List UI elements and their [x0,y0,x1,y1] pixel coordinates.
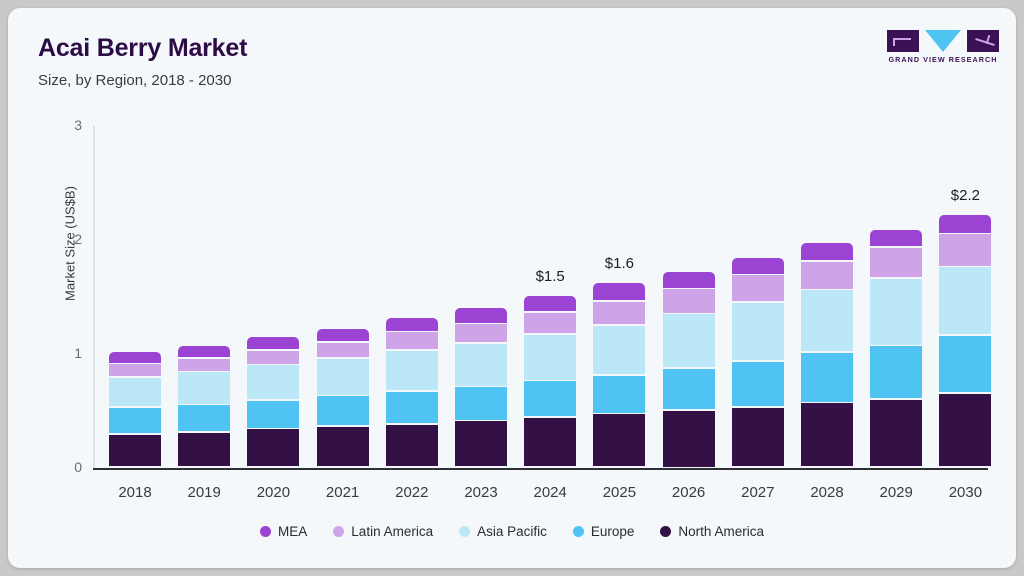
chart-card: Acai Berry Market Size, by Region, 2018 … [8,8,1016,568]
bar-segment[interactable] [732,303,784,361]
bar-segment[interactable] [939,267,991,334]
legend-swatch-icon [260,526,271,537]
legend-item-latin-america[interactable]: Latin America [333,524,433,539]
bar-segment[interactable] [663,314,715,367]
y-axis-tick-2: 2 [48,231,82,247]
bar-group[interactable] [939,8,991,468]
y-axis-tick-1: 1 [48,345,82,361]
legend-item-north-america[interactable]: North America [660,524,764,539]
legend-item-asia-pacific[interactable]: Asia Pacific [459,524,547,539]
y-axis-line [93,126,95,470]
bar-segment[interactable] [524,418,576,467]
bar-group[interactable] [663,8,715,468]
bar-segment[interactable] [801,262,853,289]
bar-segment[interactable] [109,352,161,363]
x-axis-tick-2029: 2029 [856,484,936,501]
bar-segment[interactable] [870,279,922,345]
bar-segment[interactable] [939,336,991,393]
bar-segment[interactable] [524,296,576,312]
bar-segment[interactable] [801,403,853,466]
bar-segment[interactable] [593,326,645,375]
x-axis-tick-2025: 2025 [579,484,659,501]
bar-segment[interactable] [109,435,161,467]
bar-segment[interactable] [455,421,507,466]
bar-segment[interactable] [317,396,369,425]
x-axis-tick-2018: 2018 [95,484,175,501]
bar-segment[interactable] [247,337,299,349]
bar-segment[interactable] [524,335,576,380]
bar-segment[interactable] [247,365,299,399]
bar-segment[interactable] [109,378,161,406]
bar-segment[interactable] [317,343,369,357]
legend-swatch-icon [333,526,344,537]
bar-segment[interactable] [801,243,853,260]
y-axis-tick-0: 0 [48,459,82,475]
bar-segment[interactable] [801,353,853,402]
legend-swatch-icon [573,526,584,537]
bar-segment[interactable] [386,392,438,424]
bar-segment[interactable] [593,302,645,324]
bar-segment[interactable] [109,364,161,376]
bar-segment[interactable] [939,215,991,233]
x-axis-tick-2027: 2027 [718,484,798,501]
bar-group[interactable] [386,8,438,468]
bar-segment[interactable] [455,324,507,342]
x-axis-tick-2024: 2024 [510,484,590,501]
bar-segment[interactable] [732,258,784,274]
bar-group[interactable] [801,8,853,468]
x-axis-tick-2020: 2020 [233,484,313,501]
x-axis-line [93,468,988,470]
bar-segment[interactable] [317,329,369,341]
bar-segment[interactable] [386,425,438,467]
bar-segment[interactable] [593,414,645,466]
bar-segment[interactable] [247,351,299,364]
bar-value-label: $1.5 [510,268,590,285]
bar-segment[interactable] [870,230,922,247]
bar-segment[interactable] [593,376,645,413]
bar-segment[interactable] [593,283,645,300]
bar-segment[interactable] [178,346,230,357]
bar-segment[interactable] [386,351,438,391]
bar-segment[interactable] [178,372,230,404]
bar-segment[interactable] [732,362,784,406]
bar-segment[interactable] [732,275,784,301]
legend-swatch-icon [459,526,470,537]
bar-segment[interactable] [524,381,576,416]
x-axis-tick-2026: 2026 [649,484,729,501]
bar-group[interactable] [593,8,645,468]
bar-group[interactable] [524,8,576,468]
legend-item-europe[interactable]: Europe [573,524,635,539]
bar-segment[interactable] [178,433,230,467]
bar-segment[interactable] [524,313,576,333]
x-axis-tick-2023: 2023 [441,484,521,501]
bar-group[interactable] [870,8,922,468]
legend-label: Latin America [351,524,433,539]
bar-group[interactable] [109,8,161,468]
bar-segment[interactable] [663,289,715,313]
bar-segment[interactable] [732,408,784,467]
legend-label: Europe [591,524,635,539]
bar-segment[interactable] [386,332,438,349]
x-axis-tick-2022: 2022 [372,484,452,501]
bar-group[interactable] [455,8,507,468]
bar-segment[interactable] [663,369,715,410]
bar-segment[interactable] [247,401,299,428]
bar-group[interactable] [247,8,299,468]
bar-segment[interactable] [386,318,438,331]
bar-segment[interactable] [870,346,922,398]
bar-segment[interactable] [939,394,991,467]
bar-segment[interactable] [455,387,507,420]
legend-item-mea[interactable]: MEA [260,524,307,539]
y-axis-tick-3: 3 [48,117,82,133]
bar-segment[interactable] [939,234,991,266]
bar-segment[interactable] [870,400,922,467]
legend-label: North America [678,524,764,539]
bar-segment[interactable] [663,411,715,467]
bar-segment[interactable] [317,427,369,467]
bar-segment[interactable] [317,359,369,395]
bar-segment[interactable] [663,272,715,288]
bar-value-label: $1.6 [579,255,659,272]
bar-segment[interactable] [247,429,299,466]
legend-label: MEA [278,524,307,539]
stacked-bar-chart: Market Size (US$B) 0123 $1.5$1.6$2.2 201… [8,8,1016,568]
chart-legend: MEALatin AmericaAsia PacificEuropeNorth … [8,524,1016,539]
legend-label: Asia Pacific [477,524,547,539]
x-axis-tick-2030: 2030 [925,484,1005,501]
bar-segment[interactable] [109,408,161,434]
bar-group[interactable] [317,8,369,468]
bar-segment[interactable] [455,344,507,386]
bar-segment[interactable] [870,248,922,277]
bar-group[interactable] [178,8,230,468]
x-axis-tick-2028: 2028 [787,484,867,501]
bar-group[interactable] [732,8,784,468]
bar-segment[interactable] [178,359,230,371]
legend-swatch-icon [660,526,671,537]
bar-segment[interactable] [178,405,230,431]
bar-value-label: $2.2 [925,187,1005,204]
x-axis-tick-2019: 2019 [164,484,244,501]
x-axis-tick-2021: 2021 [303,484,383,501]
bar-segment[interactable] [801,290,853,351]
bar-segment[interactable] [455,308,507,322]
